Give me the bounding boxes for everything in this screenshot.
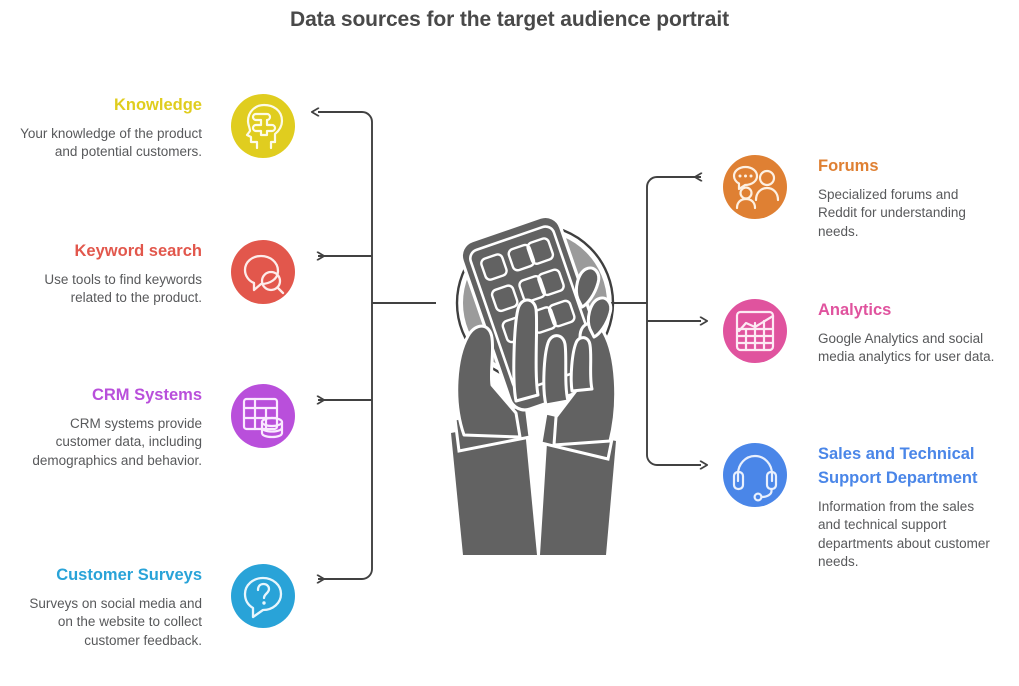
table-database-icon	[231, 384, 295, 448]
source-item-text: Forums Specialized forums and Reddit for…	[818, 155, 1000, 241]
source-description: Your knowledge of the product and potent…	[12, 125, 202, 162]
source-heading: Analytics	[818, 299, 1000, 323]
source-item-text: Analytics Google Analytics and social me…	[818, 299, 1000, 367]
source-heading: Knowledge	[12, 94, 202, 118]
hands-holding-smartphone-illustration	[420, 205, 660, 555]
source-item-text: CRM Systems CRM systems provide customer…	[12, 384, 202, 470]
source-description: Information from the sales and technical…	[818, 498, 1000, 571]
page-title: Data sources for the target audience por…	[0, 8, 1019, 32]
source-heading: Sales and Technical Support Department	[818, 443, 1000, 491]
source-item-text: Knowledge Your knowledge of the product …	[12, 94, 202, 162]
source-description: Use tools to find keywords related to th…	[12, 271, 202, 308]
people-chat-icon	[723, 155, 787, 219]
speech-bubble-magnifier-icon	[231, 240, 295, 304]
chart-grid-icon	[723, 299, 787, 363]
source-item-text: Sales and Technical Support Department I…	[818, 443, 1000, 571]
question-bubble-icon	[231, 564, 295, 628]
source-description: Specialized forums and Reddit for unders…	[818, 186, 1000, 241]
source-description: Google Analytics and social media analyt…	[818, 330, 1000, 367]
source-heading: Customer Surveys	[12, 564, 202, 588]
head-puzzle-icon	[231, 94, 295, 158]
headset-icon	[723, 443, 787, 507]
source-item-text: Customer Surveys Surveys on social media…	[12, 564, 202, 650]
source-heading: CRM Systems	[12, 384, 202, 408]
source-heading: Keyword search	[12, 240, 202, 264]
source-heading: Forums	[818, 155, 1000, 179]
source-description: Surveys on social media and on the websi…	[12, 595, 202, 650]
source-item-text: Keyword search Use tools to find keyword…	[12, 240, 202, 308]
source-description: CRM systems provide customer data, inclu…	[12, 415, 202, 470]
